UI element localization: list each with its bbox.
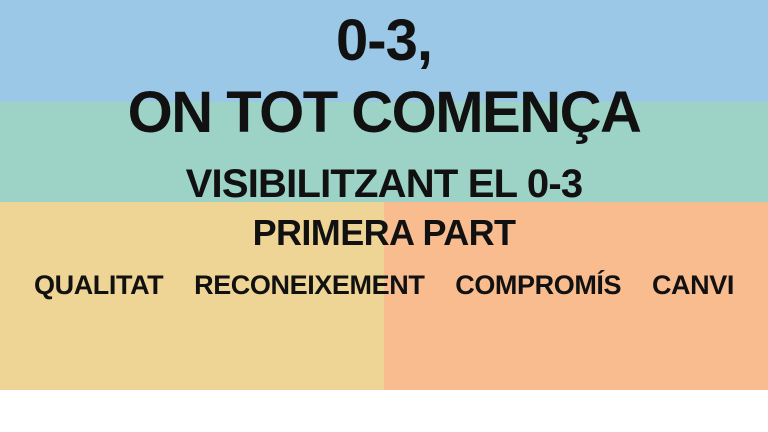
slide-text-layer: 0-3, ON TOT COMENÇA VISIBILITZANT EL 0-3… xyxy=(0,0,768,432)
keyword-row: QUALITAT RECONEIXEMENT COMPROMÍS CANVI xyxy=(34,272,734,299)
slide-subtitle-line-2: PRIMERA PART xyxy=(0,215,768,251)
keyword-reconeixement: RECONEIXEMENT xyxy=(194,272,424,299)
keyword-canvi: CANVI xyxy=(652,272,734,299)
presentation-slide: 0-3, ON TOT COMENÇA VISIBILITZANT EL 0-3… xyxy=(0,0,768,432)
slide-subtitle-line-1: VISIBILITZANT EL 0-3 xyxy=(0,164,768,204)
slide-title-line-2: ON TOT COMENÇA xyxy=(0,84,768,142)
keyword-qualitat: QUALITAT xyxy=(34,272,163,299)
slide-title-line-1: 0-3, xyxy=(0,12,768,70)
keyword-compromis: COMPROMÍS xyxy=(455,272,621,299)
footer-logo-strip: Ajuntament de Vic Vic ciutat educadora U… xyxy=(0,390,768,432)
